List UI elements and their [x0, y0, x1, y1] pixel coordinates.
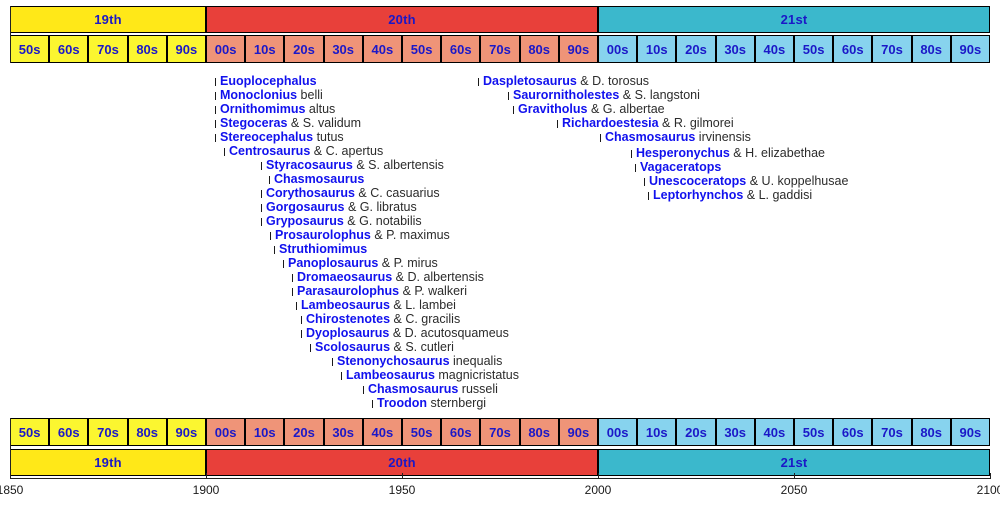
decade-cell-1990: 90s — [559, 35, 598, 63]
taxa-entry: Chirostenotes & C. gracilis — [301, 312, 460, 326]
decade-cell-2050: 50s — [794, 418, 833, 446]
genus-label: Chasmosaurus — [605, 130, 695, 144]
entry-tick-icon — [292, 274, 293, 282]
taxa-entry: Vagaceratops — [635, 160, 721, 174]
taxa-entry: Stenonychosaurus inequalis — [332, 354, 502, 368]
axis-tick-label: 2000 — [585, 483, 612, 497]
entry-tick-icon — [283, 260, 284, 268]
decade-cell-2060: 60s — [833, 35, 872, 63]
entry-tick-icon — [269, 176, 270, 184]
century-cell-20th: 20th — [206, 449, 598, 476]
species-label: & G. notabilis — [344, 214, 422, 228]
entry-tick-icon — [215, 78, 216, 86]
axis-line — [10, 478, 990, 479]
axis-tick — [402, 473, 403, 479]
taxa-entry: Gorgosaurus & G. libratus — [261, 200, 417, 214]
species-label: & C. gracilis — [390, 312, 460, 326]
decade-cell-1890: 90s — [167, 418, 206, 446]
axis-tick-label: 1950 — [389, 483, 416, 497]
decade-cell-1930: 30s — [324, 418, 363, 446]
genus-label: Vagaceratops — [640, 160, 721, 174]
taxa-entry: Stegoceras & S. validum — [215, 116, 361, 130]
taxa-entry: Euoplocephalus — [215, 74, 317, 88]
entry-tick-icon — [301, 316, 302, 324]
genus-label: Chirostenotes — [306, 312, 390, 326]
genus-label: Parasaurolophus — [297, 284, 399, 298]
entry-tick-icon — [274, 246, 275, 254]
genus-label: Monoclonius — [220, 88, 297, 102]
decade-cell-1950: 50s — [402, 418, 441, 446]
axis-tick — [990, 473, 991, 479]
decade-cell-2090: 90s — [951, 35, 990, 63]
decade-cell-1860: 60s — [49, 418, 88, 446]
genus-label: Prosaurolophus — [275, 228, 371, 242]
species-label: & S. cutleri — [390, 340, 454, 354]
genus-label: Leptorhynchos — [653, 188, 743, 202]
taxa-entry: Gravitholus & G. albertae — [513, 102, 665, 116]
species-label: irvinensis — [695, 130, 751, 144]
decade-cell-1860: 60s — [49, 35, 88, 63]
species-label: & G. albertae — [587, 102, 664, 116]
species-label: & U. koppelhusae — [746, 174, 848, 188]
species-label: & S. validum — [287, 116, 361, 130]
species-label: magnicristatus — [435, 368, 519, 382]
decade-cell-2020: 20s — [676, 418, 715, 446]
entry-tick-icon — [261, 204, 262, 212]
decade-cell-2030: 30s — [716, 35, 755, 63]
species-label: altus — [305, 102, 335, 116]
taxa-entry: Chasmosaurus russeli — [363, 382, 498, 396]
taxa-entry: Leptorhynchos & L. gaddisi — [648, 188, 812, 202]
decade-cell-1870: 70s — [88, 35, 127, 63]
species-label: & P. walkeri — [399, 284, 467, 298]
genus-label: Chasmosaurus — [368, 382, 458, 396]
species-label: tutus — [313, 130, 344, 144]
decade-cell-2000: 00s — [598, 418, 637, 446]
taxa-entry: Chasmosaurus — [269, 172, 364, 186]
entry-tick-icon — [478, 78, 479, 86]
species-label: & D. acutosquameus — [389, 326, 509, 340]
species-label: & D. torosus — [577, 74, 649, 88]
genus-label: Gryposaurus — [266, 214, 344, 228]
decade-cell-1970: 70s — [480, 418, 519, 446]
entry-tick-icon — [310, 344, 311, 352]
axis-tick-label: 1850 — [0, 483, 23, 497]
decade-cell-1990: 90s — [559, 418, 598, 446]
taxa-entry: Saurornitholestes & S. langstoni — [508, 88, 700, 102]
entry-tick-icon — [631, 150, 632, 158]
taxa-entry: Unescoceratops & U. koppelhusae — [644, 174, 848, 188]
decade-cell-1960: 60s — [441, 35, 480, 63]
entry-tick-icon — [332, 358, 333, 366]
genus-label: Daspletosaurus — [483, 74, 577, 88]
decade-cell-1980: 80s — [520, 418, 559, 446]
genus-label: Styracosaurus — [266, 158, 353, 172]
taxa-entry: Richardoestesia & R. gilmorei — [557, 116, 734, 130]
entry-tick-icon — [261, 218, 262, 226]
century-cell-21st: 21st — [598, 6, 990, 33]
taxa-entry: Hesperonychus & H. elizabethae — [631, 146, 825, 160]
entry-tick-icon — [215, 92, 216, 100]
decade-cell-1940: 40s — [363, 418, 402, 446]
genus-label: Richardoestesia — [562, 116, 659, 130]
genus-label: Euoplocephalus — [220, 74, 317, 88]
taxa-entry: Chasmosaurus irvinensis — [600, 130, 751, 144]
genus-label: Scolosaurus — [315, 340, 390, 354]
genus-label: Panoplosaurus — [288, 256, 378, 270]
genus-label: Lambeosaurus — [301, 298, 390, 312]
decade-cell-2000: 00s — [598, 35, 637, 63]
decade-cell-2070: 70s — [872, 418, 911, 446]
taxa-entry: Monoclonius belli — [215, 88, 323, 102]
taxa-entry: Corythosaurus & C. casuarius — [261, 186, 440, 200]
entry-tick-icon — [557, 120, 558, 128]
genus-label: Gravitholus — [518, 102, 587, 116]
decade-cell-1950: 50s — [402, 35, 441, 63]
genus-label: Dyoplosaurus — [306, 326, 389, 340]
species-label: inequalis — [450, 354, 503, 368]
decade-cell-2090: 90s — [951, 418, 990, 446]
decade-cell-1900: 00s — [206, 418, 245, 446]
species-label: & C. apertus — [310, 144, 383, 158]
decade-cell-2080: 80s — [912, 35, 951, 63]
species-label: & S. langstoni — [619, 88, 700, 102]
entry-tick-icon — [363, 386, 364, 394]
species-label: & H. elizabethae — [730, 146, 825, 160]
entry-tick-icon — [648, 192, 649, 200]
species-label: & R. gilmorei — [659, 116, 734, 130]
decade-cell-1920: 20s — [284, 418, 323, 446]
entry-tick-icon — [215, 120, 216, 128]
axis-tick-label: 1900 — [193, 483, 220, 497]
decade-cell-2040: 40s — [755, 418, 794, 446]
species-label: russeli — [458, 382, 498, 396]
decade-cell-2060: 60s — [833, 418, 872, 446]
entry-tick-icon — [261, 162, 262, 170]
species-label: sternbergi — [427, 396, 486, 410]
species-label: & P. mirus — [378, 256, 438, 270]
genus-label: Centrosaurus — [229, 144, 310, 158]
decade-cell-2080: 80s — [912, 418, 951, 446]
frame-edge — [10, 6, 11, 63]
genus-label: Corythosaurus — [266, 186, 355, 200]
decade-cell-1900: 00s — [206, 35, 245, 63]
taxa-entry: Lambeosaurus magnicristatus — [341, 368, 519, 382]
taxa-entry: Prosaurolophus & P. maximus — [270, 228, 450, 242]
genus-label: Ornithomimus — [220, 102, 305, 116]
axis-tick-label: 2100 — [977, 483, 1000, 497]
top-decade-band: 50s60s70s80s90s00s10s20s30s40s50s60s70s8… — [10, 35, 990, 63]
species-label: & L. lambei — [390, 298, 456, 312]
decade-cell-2010: 10s — [637, 35, 676, 63]
decade-cell-2070: 70s — [872, 35, 911, 63]
genus-label: Stereocephalus — [220, 130, 313, 144]
decade-cell-2050: 50s — [794, 35, 833, 63]
taxa-entry: Panoplosaurus & P. mirus — [283, 256, 438, 270]
axis-tick-label: 2050 — [781, 483, 808, 497]
taxa-entry: Dromaeosaurus & D. albertensis — [292, 270, 484, 284]
decade-cell-1850: 50s — [10, 418, 49, 446]
decade-cell-1930: 30s — [324, 35, 363, 63]
taxa-entry: Struthiomimus — [274, 242, 367, 256]
decade-cell-1980: 80s — [520, 35, 559, 63]
species-label: & S. albertensis — [353, 158, 444, 172]
taxa-entry: Ornithomimus altus — [215, 102, 335, 116]
entry-tick-icon — [224, 148, 225, 156]
genus-label: Hesperonychus — [636, 146, 730, 160]
entry-tick-icon — [261, 190, 262, 198]
decade-cell-1880: 80s — [128, 418, 167, 446]
century-cell-19th: 19th — [10, 6, 206, 33]
genus-label: Saurornitholestes — [513, 88, 619, 102]
genus-label: Chasmosaurus — [274, 172, 364, 186]
decade-cell-2020: 20s — [676, 35, 715, 63]
taxa-entry: Stereocephalus tutus — [215, 130, 344, 144]
entry-tick-icon — [508, 92, 509, 100]
axis-tick — [598, 473, 599, 479]
species-label: & L. gaddisi — [743, 188, 812, 202]
entry-tick-icon — [341, 372, 342, 380]
species-label: & G. libratus — [345, 200, 417, 214]
genus-label: Gorgosaurus — [266, 200, 345, 214]
entry-tick-icon — [513, 106, 514, 114]
entry-tick-icon — [270, 232, 271, 240]
entry-tick-icon — [301, 330, 302, 338]
taxa-entry: Troodon sternbergi — [372, 396, 486, 410]
taxa-entry: Lambeosaurus & L. lambei — [296, 298, 456, 312]
decade-cell-2030: 30s — [716, 418, 755, 446]
decade-cell-1970: 70s — [480, 35, 519, 63]
decade-cell-1880: 80s — [128, 35, 167, 63]
taxa-entry: Dyoplosaurus & D. acutosquameus — [301, 326, 509, 340]
entry-tick-icon — [292, 288, 293, 296]
genus-label: Dromaeosaurus — [297, 270, 392, 284]
axis-tick — [794, 473, 795, 479]
genus-label: Unescoceratops — [649, 174, 746, 188]
decade-cell-1870: 70s — [88, 418, 127, 446]
species-label: belli — [297, 88, 323, 102]
entry-tick-icon — [600, 134, 601, 142]
decade-cell-1960: 60s — [441, 418, 480, 446]
entry-tick-icon — [372, 400, 373, 408]
entry-tick-icon — [215, 106, 216, 114]
decade-cell-1850: 50s — [10, 35, 49, 63]
taxa-entry: Scolosaurus & S. cutleri — [310, 340, 454, 354]
taxa-entry: Gryposaurus & G. notabilis — [261, 214, 422, 228]
decade-cell-1940: 40s — [363, 35, 402, 63]
bottom-decade-band: 50s60s70s80s90s00s10s20s30s40s50s60s70s8… — [10, 418, 990, 446]
species-label: & C. casuarius — [355, 186, 440, 200]
century-cell-21st: 21st — [598, 449, 990, 476]
genus-label: Lambeosaurus — [346, 368, 435, 382]
bottom-century-band: 19th20th21st — [10, 449, 990, 476]
decade-cell-2040: 40s — [755, 35, 794, 63]
genus-label: Troodon — [377, 396, 427, 410]
genus-label: Struthiomimus — [279, 242, 367, 256]
taxa-entry: Centrosaurus & C. apertus — [224, 144, 383, 158]
entry-tick-icon — [215, 134, 216, 142]
timeline-chart: 19th20th21st 50s60s70s80s90s00s10s20s30s… — [0, 0, 1000, 525]
entry-tick-icon — [644, 178, 645, 186]
genus-label: Stegoceras — [220, 116, 287, 130]
entry-tick-icon — [296, 302, 297, 310]
entry-tick-icon — [635, 164, 636, 172]
species-label: & P. maximus — [371, 228, 450, 242]
species-label: & D. albertensis — [392, 270, 484, 284]
century-cell-20th: 20th — [206, 6, 598, 33]
century-cell-19th: 19th — [10, 449, 206, 476]
taxa-entry: Parasaurolophus & P. walkeri — [292, 284, 467, 298]
axis-tick — [206, 473, 207, 479]
decade-cell-2010: 10s — [637, 418, 676, 446]
genus-label: Stenonychosaurus — [337, 354, 450, 368]
taxa-entry: Styracosaurus & S. albertensis — [261, 158, 444, 172]
decade-cell-1910: 10s — [245, 418, 284, 446]
decade-cell-1890: 90s — [167, 35, 206, 63]
frame-edge — [10, 418, 11, 478]
decade-cell-1920: 20s — [284, 35, 323, 63]
decade-cell-1910: 10s — [245, 35, 284, 63]
taxa-entry: Daspletosaurus & D. torosus — [478, 74, 649, 88]
top-century-band: 19th20th21st — [10, 6, 990, 33]
